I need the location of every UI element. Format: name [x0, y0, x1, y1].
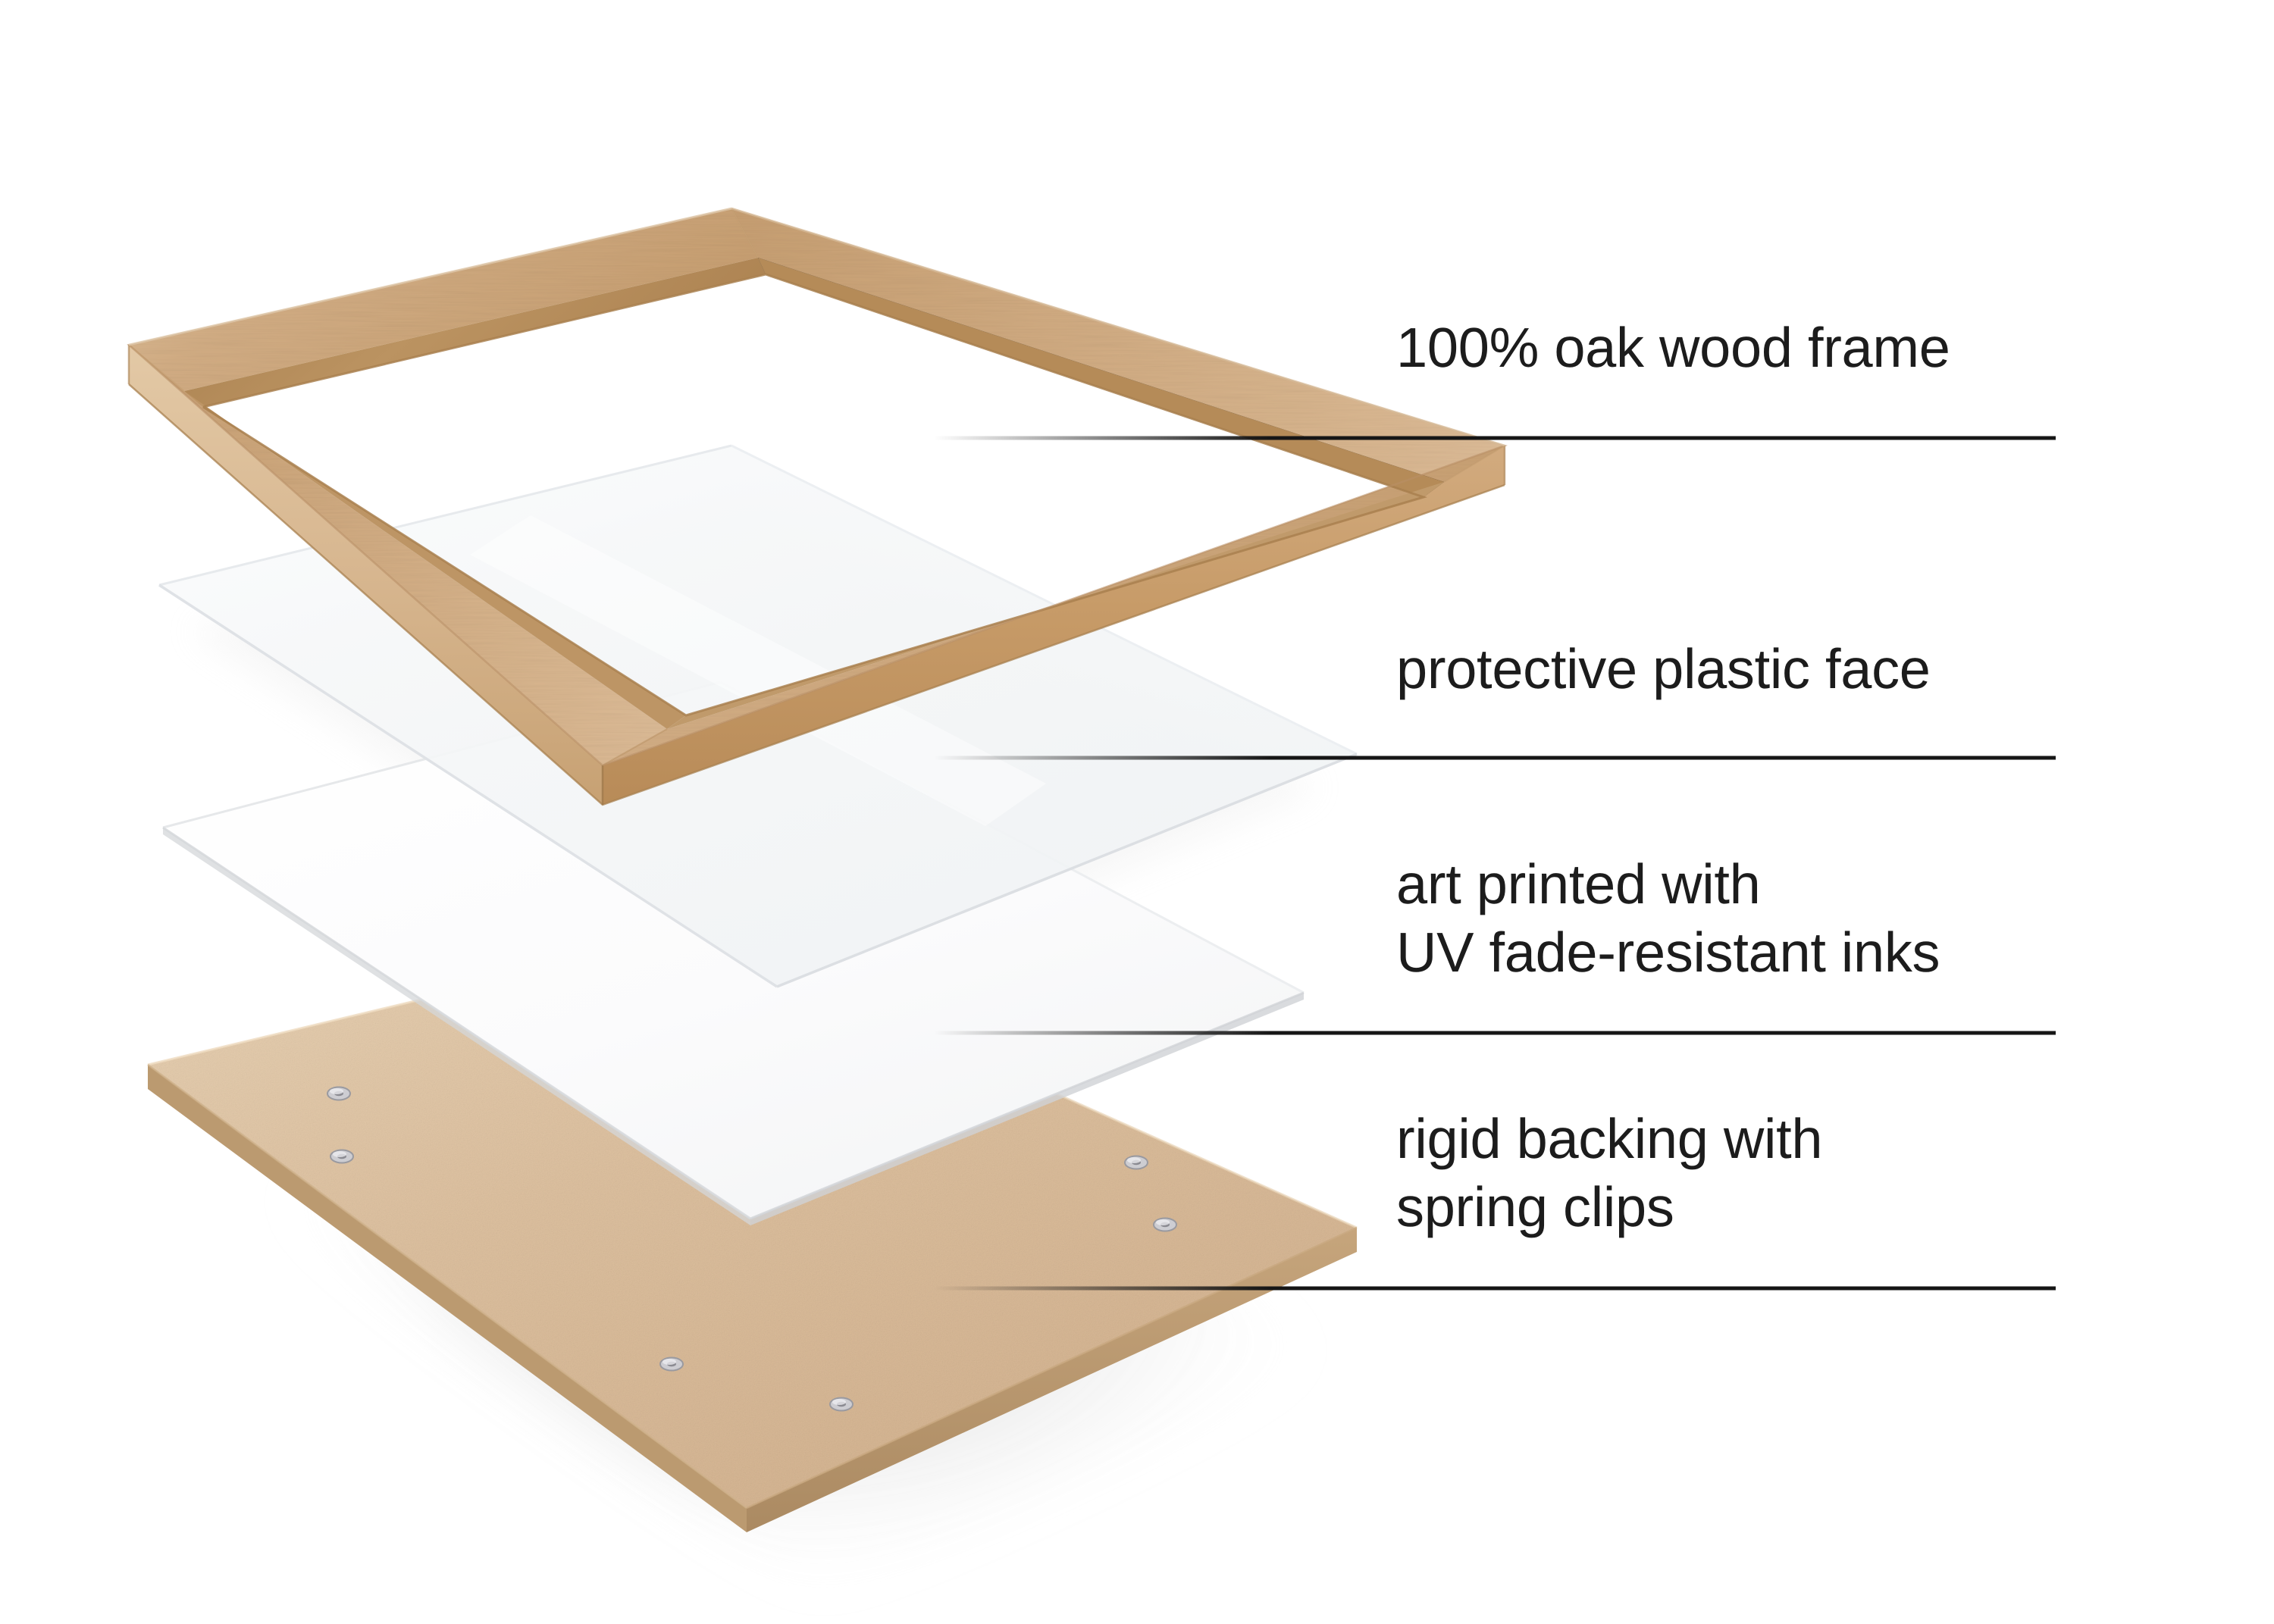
product-illustration: [0, 0, 2274, 1624]
spring-clip-rivet: [660, 1358, 683, 1371]
leader-line-print: [934, 1031, 2056, 1035]
leader-line-plastic: [934, 756, 2056, 760]
label-oak-wood-frame: 100% oak wood frame: [1396, 314, 1950, 382]
spring-clip-rivet: [830, 1398, 853, 1411]
label-rigid-backing-board: rigid backing with spring clips: [1396, 1105, 1822, 1241]
leader-line-frame: [934, 437, 2056, 440]
spring-clip-rivet: [327, 1087, 350, 1100]
exploded-view-diagram: 100% oak wood frame protective plastic f…: [0, 0, 2274, 1624]
label-protective-plastic-face: protective plastic face: [1396, 635, 1931, 703]
spring-clip-rivet: [1125, 1156, 1148, 1169]
label-art-print-sheet: art printed with UV fade-resistant inks: [1396, 850, 1940, 986]
leader-line-backing: [934, 1287, 2056, 1291]
spring-clip-rivet: [330, 1150, 353, 1163]
spring-clip-rivet: [1154, 1219, 1176, 1231]
